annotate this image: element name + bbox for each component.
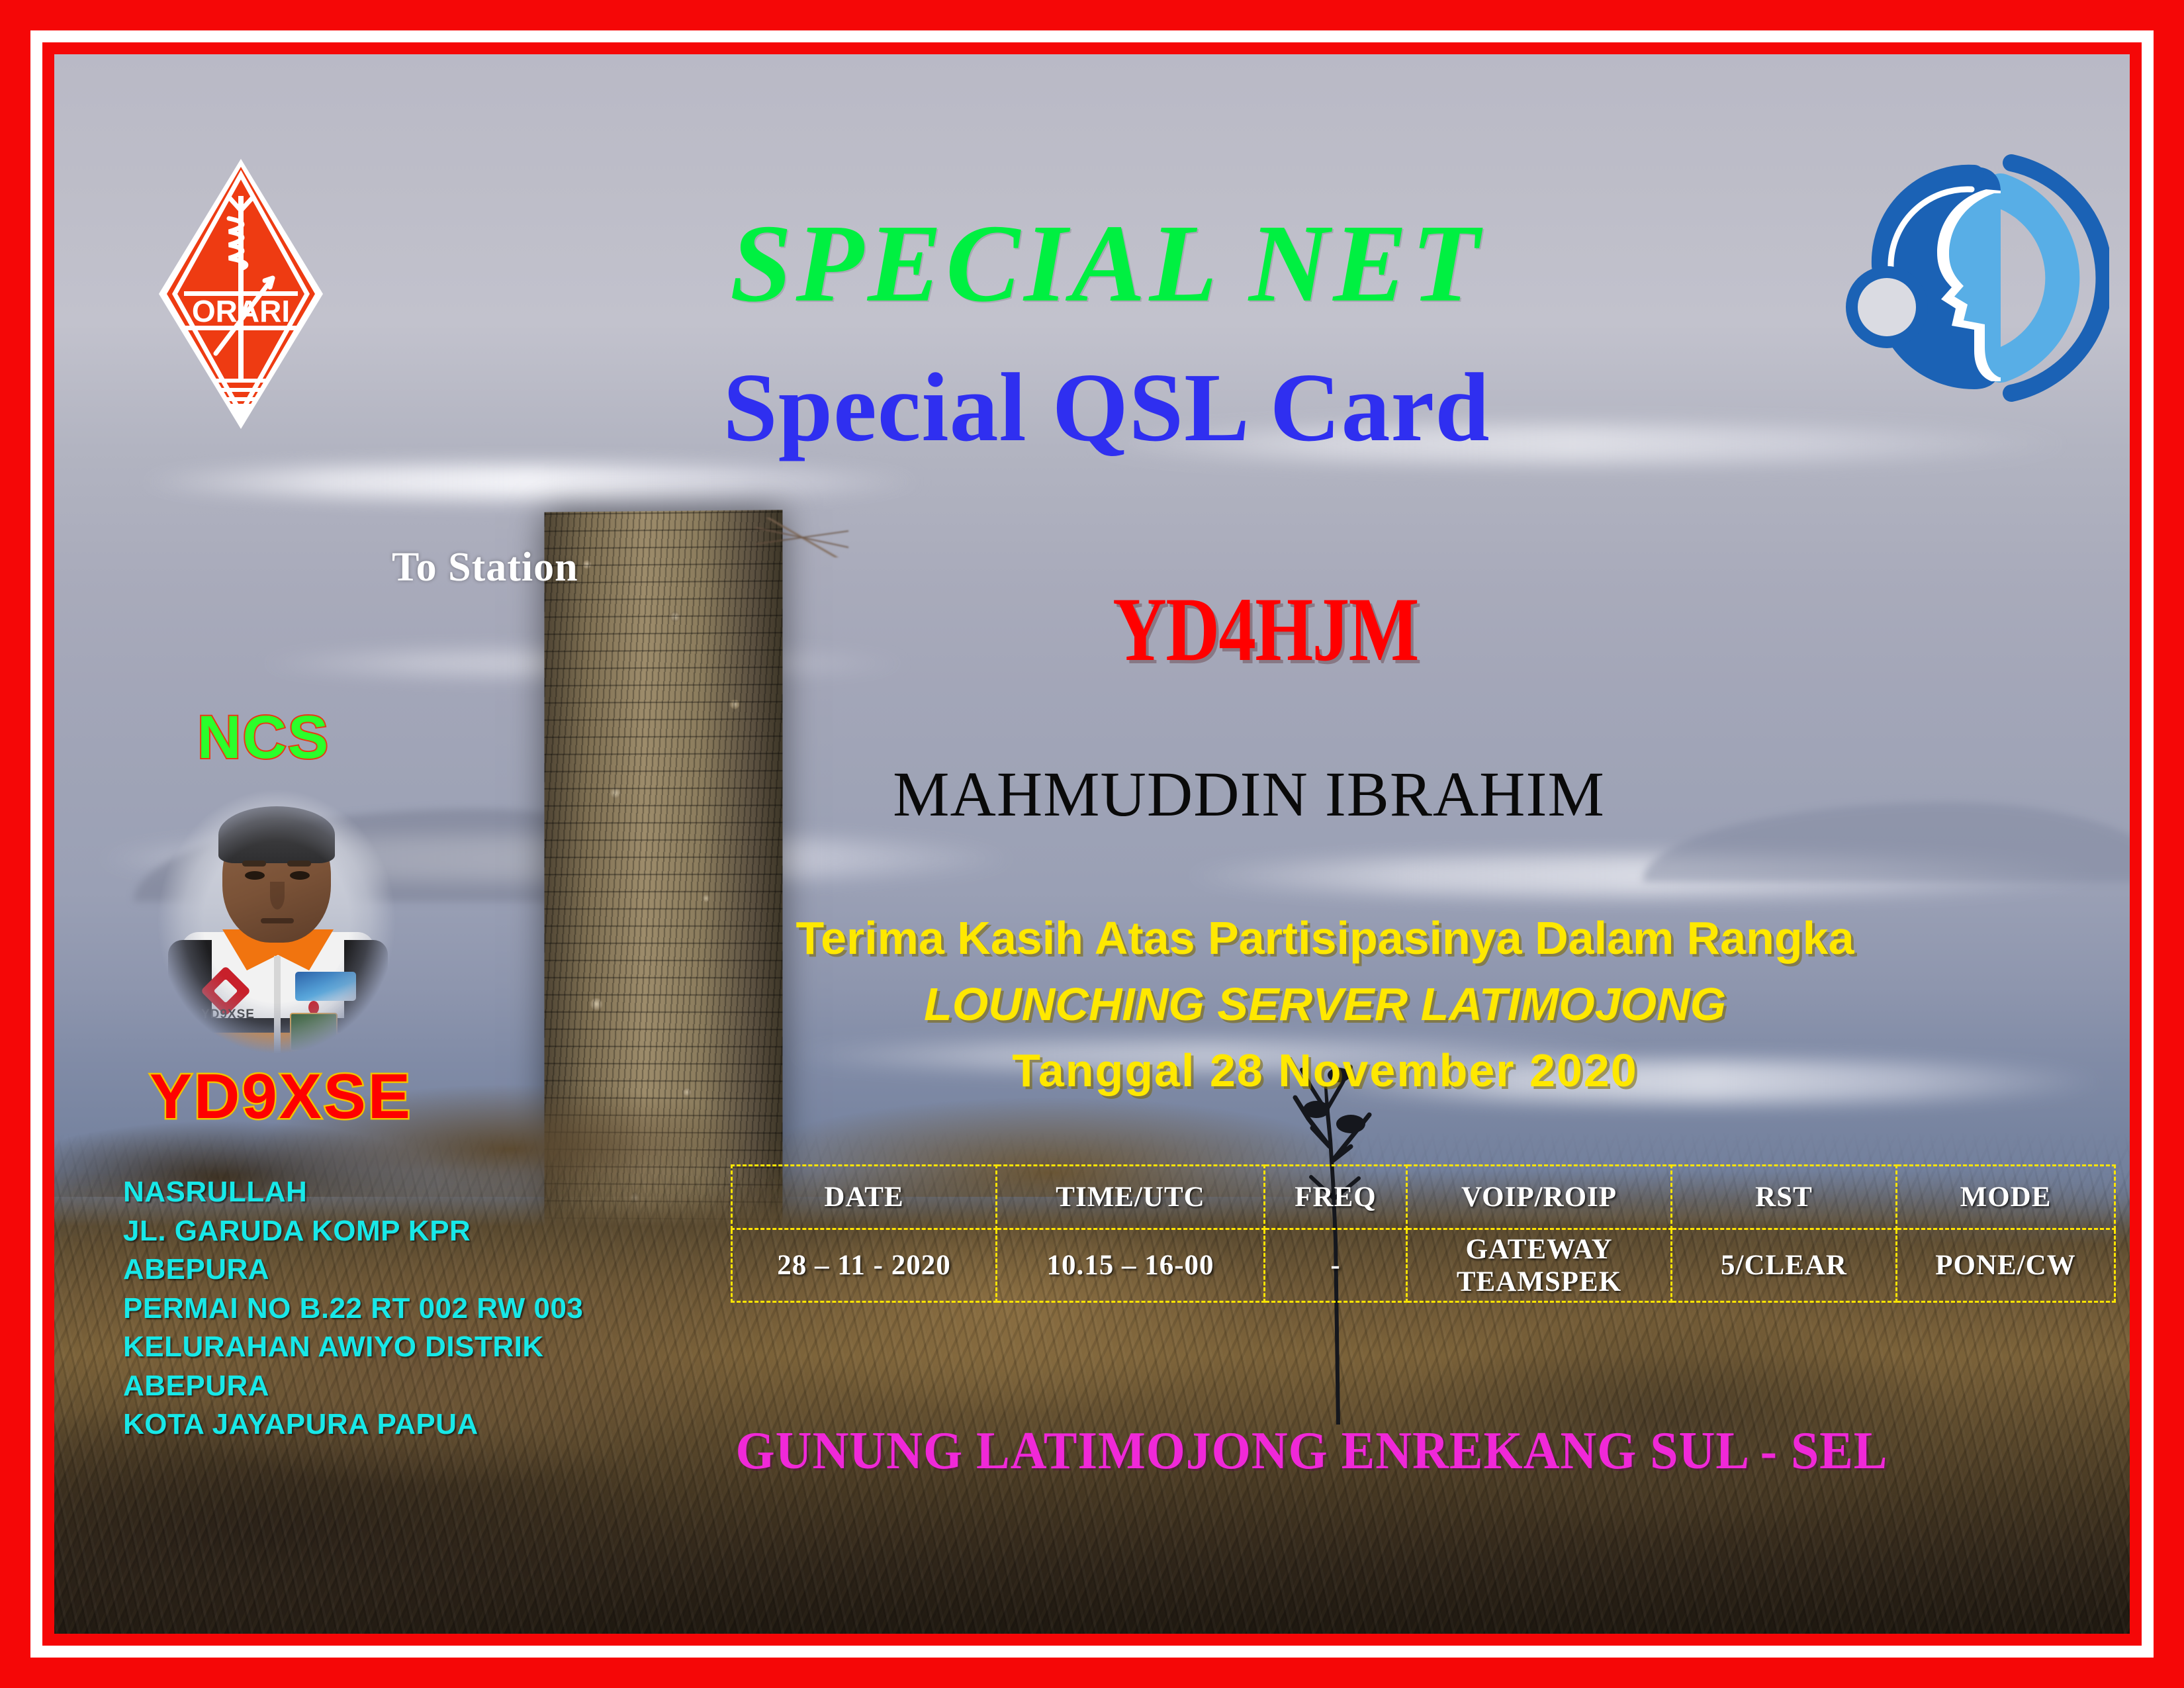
summit-grass-tuft xyxy=(756,518,848,557)
event-date: Tanggal 28 November 2020 xyxy=(769,1047,1881,1094)
eyebrow-right xyxy=(287,861,311,867)
location-line: GUNUNG LATIMOJONG ENREKANG SUL - SEL xyxy=(721,1425,1903,1477)
cell-date: 28 – 11 - 2020 xyxy=(732,1229,997,1302)
orari-logo-text: ORARI xyxy=(192,294,290,328)
table-header-mode: MODE xyxy=(1897,1166,2115,1229)
eye-right xyxy=(290,871,310,880)
ncs-callsign: YD9XSE xyxy=(150,1060,412,1133)
cell-time: 10.15 – 16-00 xyxy=(997,1229,1265,1302)
to-station-label: To Station xyxy=(392,544,578,591)
ncs-operator-photo: YD9XSE xyxy=(144,782,409,1060)
motto-text: "AMATIR RADIO ADALAH PROGRESIVE" xyxy=(132,1630,1042,1634)
cloud-band xyxy=(134,465,928,499)
recipient-name: MAHMUDDIN IBRAHIM xyxy=(769,763,1729,826)
address-line: ABEPURA xyxy=(123,1367,692,1406)
uniform-callsign-text: YD9XSE xyxy=(201,1008,281,1022)
card-title-special-net: SPECIAL NET xyxy=(478,208,1735,319)
card-subtitle-qsl: Special QSL Card xyxy=(478,359,1735,457)
recipient-callsign: YD4HJM xyxy=(913,584,1618,675)
address-line: NASRULLAH xyxy=(123,1173,692,1212)
qsl-card-outer-border: ORARI xyxy=(0,0,2184,1688)
thanks-line: Terima Kasih Atas Partisipasinya Dalam R… xyxy=(769,915,1881,961)
table-header-voip: VOIP/ROIP xyxy=(1407,1166,1672,1229)
orari-diamond-logo: ORARI xyxy=(155,155,327,433)
table-header-rst: RST xyxy=(1672,1166,1897,1229)
table-header-freq: FREQ xyxy=(1265,1166,1407,1229)
address-line: KELURAHAN AWIYO DISTRIK xyxy=(123,1328,692,1367)
address-line: PERMAI NO B.22 RT 002 RW 003 xyxy=(123,1289,692,1329)
eye-left xyxy=(245,871,265,880)
mouth xyxy=(261,918,294,923)
address-line: KOTA JAYAPURA PAPUA xyxy=(123,1405,692,1444)
uniform-placket xyxy=(274,956,281,1055)
cell-voip: GATEWAY TEAMSPEK xyxy=(1407,1229,1672,1302)
cell-rst: 5/CLEAR xyxy=(1672,1229,1897,1302)
table-row: 28 – 11 - 2020 10.15 – 16-00 - GATEWAY T… xyxy=(732,1229,2115,1302)
address-line: JL. GARUDA KOMP KPR xyxy=(123,1212,692,1251)
cell-mode: PONE/CW xyxy=(1897,1229,2115,1302)
nose xyxy=(270,882,285,910)
cell-voip-line1: GATEWAY xyxy=(1408,1233,1670,1266)
table-header-time: TIME/UTC xyxy=(997,1166,1265,1229)
ncs-role-label: NCS xyxy=(197,703,330,773)
address-line: ABEPURA xyxy=(123,1250,692,1289)
eyebrow-left xyxy=(242,861,266,867)
id-card xyxy=(290,1013,338,1051)
qso-log-table: DATE TIME/UTC FREQ VOIP/ROIP RST MODE 28… xyxy=(731,1164,2116,1303)
operator-hair xyxy=(218,806,335,863)
table-header-date: DATE xyxy=(732,1166,997,1229)
cell-freq: - xyxy=(1265,1229,1407,1302)
table-header-row: DATE TIME/UTC FREQ VOIP/ROIP RST MODE xyxy=(732,1166,2115,1229)
web-address: Address : amatir.latimojong.com xyxy=(1328,1630,1959,1634)
lanyard-reel xyxy=(308,1001,319,1014)
cell-voip-line2: TEAMSPEK xyxy=(1408,1266,1670,1298)
uniform-chest-patch xyxy=(295,972,356,1001)
qsl-card-photo-area: ORARI xyxy=(54,54,2130,1634)
return-address-block: NASRULLAH JL. GARUDA KOMP KPR ABEPURA PE… xyxy=(123,1173,692,1444)
headphones-face-logo xyxy=(1844,152,2109,404)
event-line: LOUNCHING SERVER LATIMOJONG xyxy=(769,981,1881,1027)
